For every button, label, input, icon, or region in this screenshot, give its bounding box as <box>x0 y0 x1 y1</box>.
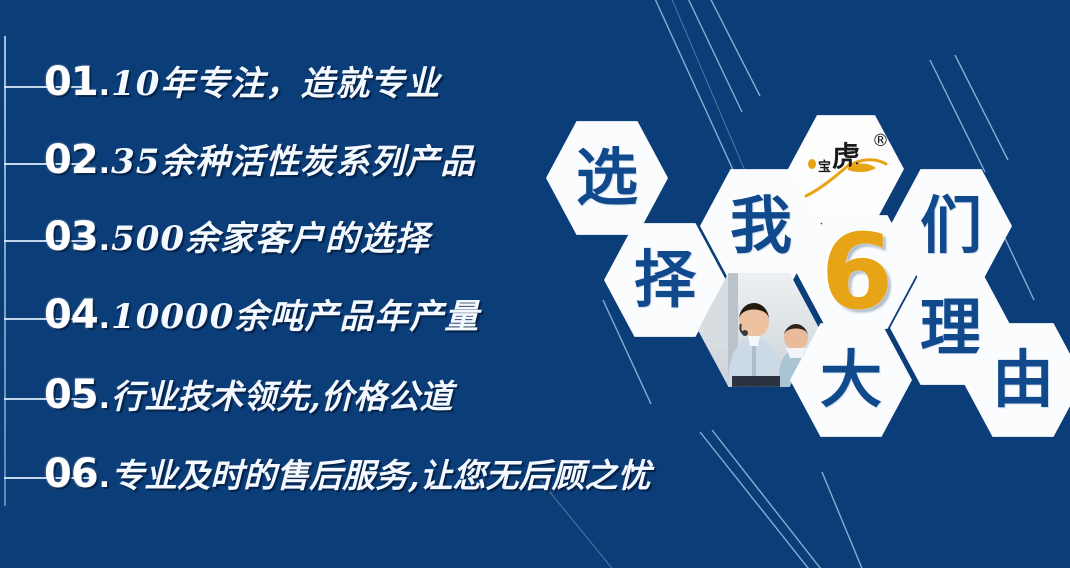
feature-item-4: 04 . 10000余吨产品年产量 <box>44 295 479 335</box>
feature-number-3: 03 <box>44 217 98 257</box>
feature-text-2: 35余种活性炭系列产品 <box>111 145 475 179</box>
svg-text:®: ® <box>872 131 889 151</box>
hexagon-logo: 宝 虎 ® 宝虎 <box>788 114 904 224</box>
hexagon-men: 们 <box>890 168 1012 284</box>
feature-number-5: 05 <box>44 375 98 415</box>
feature-text-3: 500余家客户的选择 <box>111 222 430 256</box>
feature-item-5: 05 . 行业技术领先,价格公道 <box>44 375 453 415</box>
brand-logo: 宝 虎 ® <box>788 114 904 224</box>
feature-text-5: 行业技术领先,价格公道 <box>111 380 453 413</box>
promo-banner: 01 . 10年专注，造就专业 02 . 35余种活性炭系列产品 03 . 50… <box>0 0 1070 568</box>
hexagon-label-six: 6 <box>821 220 893 324</box>
hexagon-you: 由 <box>962 322 1070 438</box>
hexagon-label-wo: 我 <box>730 195 792 257</box>
feature-text-1: 10年专注，造就专业 <box>111 67 440 101</box>
feature-separator-6: . <box>99 463 110 493</box>
feature-separator-2: . <box>99 149 110 179</box>
hexagon-label-you: 由 <box>992 349 1054 411</box>
feature-separator-4: . <box>99 304 110 334</box>
feature-number-1: 01 <box>44 62 98 102</box>
feature-item-3: 03 . 500余家客户的选择 <box>44 217 430 257</box>
feature-number-4: 04 <box>44 295 98 335</box>
feature-item-1: 01 . 10年专注，造就专业 <box>44 62 440 102</box>
hexagon-label-xuan: 选 <box>576 147 638 209</box>
feature-item-2: 02 . 35余种活性炭系列产品 <box>44 140 475 180</box>
feature-text-6: 专业及时的售后服务,让您无后顾之忧 <box>111 459 651 492</box>
hexagon-label-ze: 择 <box>634 249 696 311</box>
feature-item-6: 06 . 专业及时的售后服务,让您无后顾之忧 <box>44 454 651 494</box>
feature-number-6: 06 <box>44 454 98 494</box>
feature-text-4: 10000余吨产品年产量 <box>111 300 479 334</box>
hexagon-label-da: 大 <box>820 349 882 411</box>
feature-separator-1: . <box>99 71 110 101</box>
feature-number-2: 02 <box>44 140 98 180</box>
svg-text:宝: 宝 <box>818 159 831 175</box>
feature-separator-5: . <box>99 384 110 414</box>
hexagon-label-men: 们 <box>920 195 982 257</box>
feature-separator-3: . <box>99 226 110 256</box>
hexagon-xuan: 选 <box>546 120 668 236</box>
